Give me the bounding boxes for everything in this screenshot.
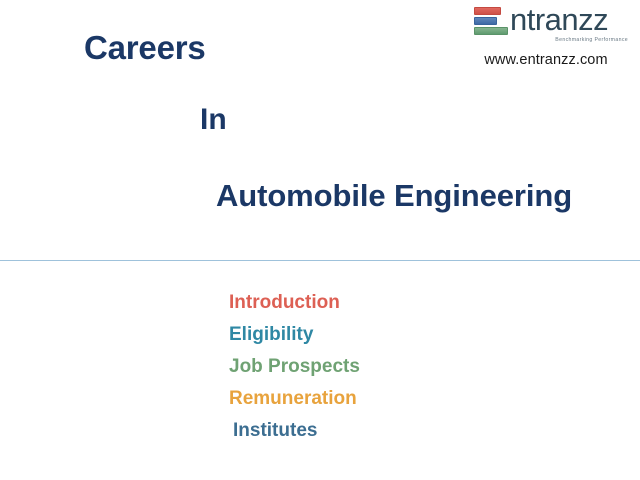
- agenda-item-eligibility: Eligibility: [229, 319, 360, 351]
- logo-bar-blue-icon: [474, 17, 497, 25]
- agenda-list: Introduction Eligibility Job Prospects R…: [229, 287, 360, 447]
- horizontal-divider: [0, 260, 640, 261]
- logo-tagline: Benchmarking Performance: [460, 37, 632, 43]
- logo-e-icon: [474, 4, 508, 35]
- agenda-item-job-prospects: Job Prospects: [229, 351, 360, 383]
- title-line-careers: Careers: [84, 29, 206, 67]
- agenda-item-remuneration: Remuneration: [229, 383, 360, 415]
- presentation-slide: ntranzz Benchmarking Performance www.ent…: [0, 0, 640, 480]
- logo-wordmark: ntranzz: [510, 4, 608, 36]
- entranzz-logo: ntranzz: [460, 4, 632, 40]
- agenda-item-institutes: Institutes: [229, 415, 360, 447]
- logo-bar-green-icon: [474, 27, 508, 35]
- logo-bar-red-icon: [474, 7, 501, 15]
- site-url: www.entranzz.com: [460, 52, 632, 68]
- brand-block: ntranzz Benchmarking Performance www.ent…: [460, 4, 632, 68]
- title-line-in: In: [200, 103, 227, 137]
- title-line-subject: Automobile Engineering: [216, 178, 572, 214]
- agenda-item-introduction: Introduction: [229, 287, 360, 319]
